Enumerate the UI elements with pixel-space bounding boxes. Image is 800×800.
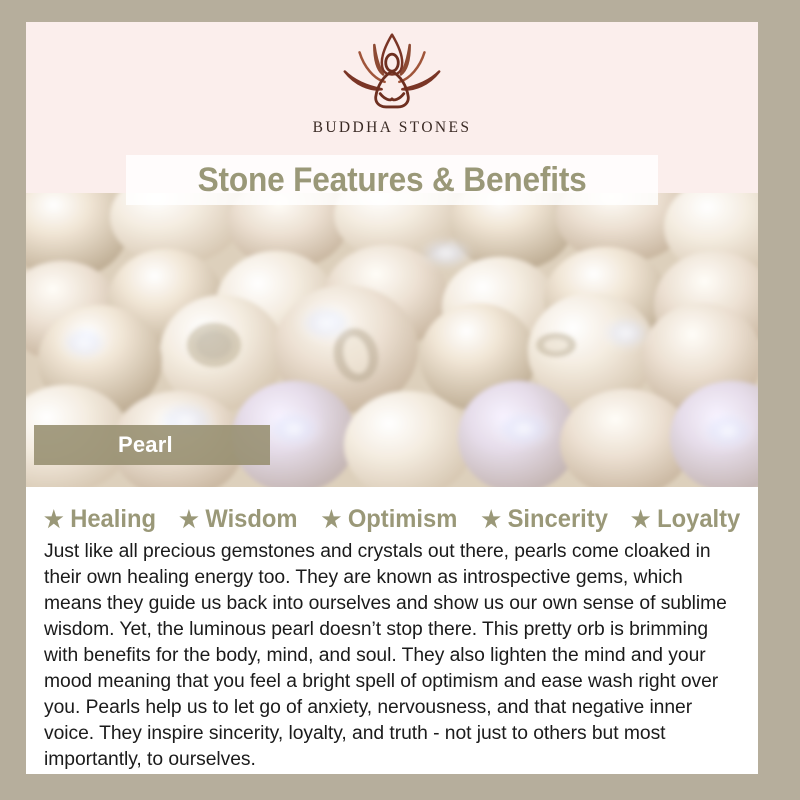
star-icon: ★ — [481, 508, 501, 531]
decorative-top-olive-band — [0, 0, 800, 22]
decorative-bottom-olive-band — [0, 774, 800, 800]
benefit-label: Optimism — [347, 505, 457, 534]
benefit-label: Loyalty — [657, 505, 740, 534]
brand-name: BUDDHA STONES — [313, 119, 472, 137]
pearl-photo: Pearl — [26, 193, 758, 487]
benefit-item-loyalty: ★ Loyalty — [624, 505, 747, 534]
benefit-keywords: ★ Healing ★ Wisdom ★ Optimism ★ Sincerit… — [44, 505, 740, 534]
star-icon: ★ — [321, 508, 341, 531]
page-title: Stone Features & Benefits — [198, 161, 587, 200]
benefit-label: Healing — [70, 505, 156, 534]
stone-name-badge: Pearl — [34, 425, 270, 465]
stone-name: Pearl — [118, 432, 173, 458]
brand-logo: BUDDHA STONES — [26, 30, 758, 137]
star-icon: ★ — [179, 508, 199, 531]
description-panel: ★ Healing ★ Wisdom ★ Optimism ★ Sincerit… — [26, 487, 758, 774]
decorative-left-olive-band — [0, 0, 26, 775]
lotus-meditation-logo-icon — [333, 30, 451, 116]
title-band: Stone Features & Benefits — [126, 155, 658, 205]
benefit-item-wisdom: ★ Wisdom — [172, 505, 304, 534]
description-text: Just like all precious gemstones and cry… — [44, 538, 730, 772]
content-card: BUDDHA STONES Stone Features & Benefits — [26, 22, 758, 774]
benefit-label: Sincerity — [507, 505, 607, 534]
benefit-label: Wisdom — [205, 505, 297, 534]
benefit-item-sincerity: ★ Sincerity — [474, 505, 614, 534]
infographic-canvas: BUDDHA STONES Stone Features & Benefits — [0, 0, 800, 800]
star-icon: ★ — [631, 508, 651, 531]
benefit-item-optimism: ★ Optimism — [315, 505, 464, 534]
decorative-right-olive-band — [758, 0, 800, 600]
benefit-item-healing: ★ Healing — [37, 505, 162, 534]
star-icon: ★ — [44, 508, 64, 531]
